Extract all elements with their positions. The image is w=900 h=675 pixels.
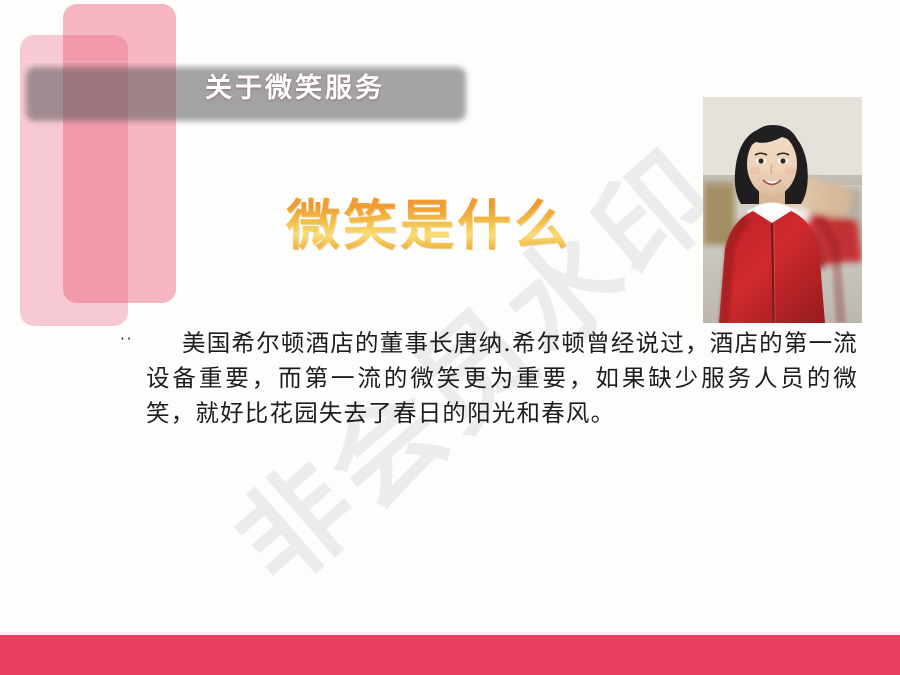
body-text-block: ·· 美国希尔顿酒店的董事长唐纳.希尔顿曾经说过，酒店的第一流设备重要，而第一流… bbox=[118, 326, 858, 431]
staff-photo-image bbox=[703, 97, 862, 323]
body-paragraph: 美国希尔顿酒店的董事长唐纳.希尔顿曾经说过，酒店的第一流设备重要，而第一流的微笑… bbox=[118, 326, 858, 431]
bullet-marker: ·· bbox=[120, 332, 134, 347]
staff-photo bbox=[703, 97, 862, 323]
presentation-slide: 非会员水印 关于微笑服务 微笑是什么 bbox=[0, 0, 900, 675]
bottom-accent-bar bbox=[0, 635, 900, 675]
page-title: 微笑是什么 bbox=[286, 196, 571, 255]
title-banner-label: 关于微笑服务 bbox=[97, 75, 385, 102]
title-banner: 关于微笑服务 bbox=[21, 61, 461, 115]
